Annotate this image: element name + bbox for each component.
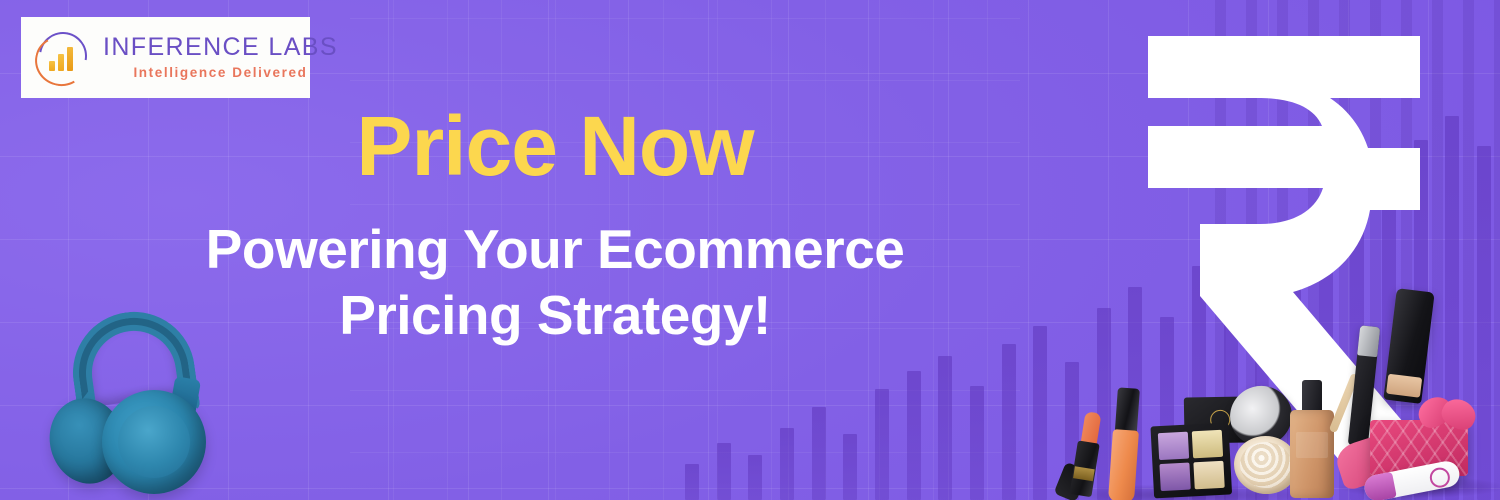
chart-bar	[907, 371, 921, 500]
chart-bar	[748, 455, 762, 500]
page-title: Price Now	[0, 104, 1110, 190]
chart-bar	[938, 356, 952, 500]
mascara-cap	[1357, 325, 1380, 357]
chart-bar	[1002, 344, 1016, 500]
chart-bar	[812, 407, 826, 500]
gift-bow-icon	[1418, 398, 1480, 446]
foundation-bottle-icon	[1290, 380, 1334, 498]
lip-gloss-icon	[1108, 387, 1142, 500]
chart-bar	[717, 443, 731, 500]
mary-kay-gift-set-image	[1342, 290, 1500, 500]
lip-gloss-tube	[1108, 429, 1139, 500]
bar-chart-in-circle-icon	[35, 29, 93, 87]
cc-cream-band	[1386, 374, 1422, 398]
cosmetics-product-group	[1068, 384, 1288, 500]
promo-banner: Price Now Powering Your Ecommerce Pricin…	[0, 0, 1500, 500]
chart-bar	[875, 389, 889, 500]
chart-bar	[685, 464, 699, 500]
foundation-pump	[1302, 380, 1322, 414]
chart-bar	[780, 428, 794, 500]
brand-logo[interactable]: INFERENCE LABS Intelligence Delivered	[21, 17, 310, 98]
headphones-product-image	[44, 312, 222, 492]
cc-cream-tube-icon	[1383, 288, 1434, 404]
palette-tray	[1150, 422, 1232, 498]
chart-bar	[970, 386, 984, 500]
subtitle-line-1: Powering Your Ecommerce	[0, 216, 1110, 282]
logo-tagline: Intelligence Delivered	[103, 66, 338, 80]
chart-bar	[843, 434, 857, 500]
logo-company-name: INFERENCE LABS	[103, 35, 338, 60]
logo-bars	[49, 47, 79, 71]
headphones-earcup-right	[102, 390, 206, 494]
logo-text: INFERENCE LABS Intelligence Delivered	[103, 35, 338, 80]
lip-gloss-cap	[1115, 387, 1140, 432]
foundation-label	[1296, 432, 1328, 458]
lipstick-icon	[1070, 411, 1105, 497]
chart-bar	[1033, 326, 1047, 500]
